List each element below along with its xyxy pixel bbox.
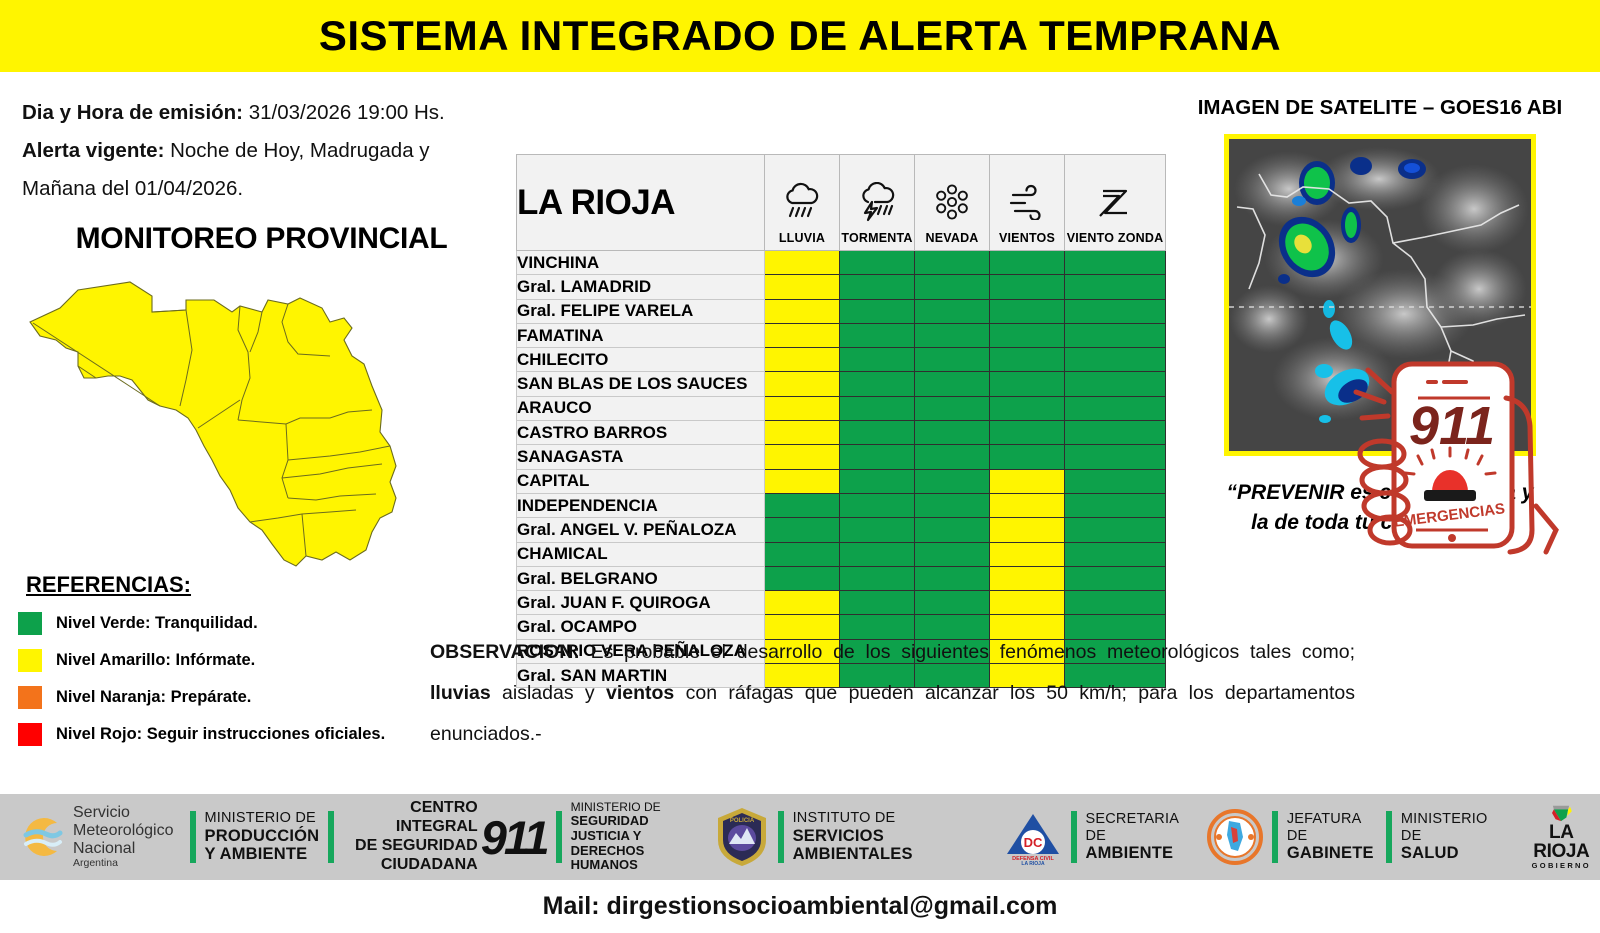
- emission-datetime-value: 31/03/2026 19:00 Hs.: [243, 101, 445, 124]
- la-rioja-gobierno-icon: [1531, 804, 1591, 822]
- alert-cell-vientos: [990, 275, 1065, 299]
- footer-logo-produccion: MINISTERIO DE PRODUCCIÓN Y AMBIENTE: [205, 804, 320, 870]
- inst-bold-1: SERVICIOS AMBIENTALES: [793, 827, 990, 864]
- cis-line-3: CIUDADANA: [343, 856, 477, 875]
- column-header-lluvia: LLUVIA: [765, 155, 840, 251]
- legend-swatch-green: [18, 612, 42, 635]
- legend-swatch-red: [18, 723, 42, 746]
- column-label-viento-zonda: VIENTO ZONDA: [1065, 231, 1165, 250]
- table-row-department: INDEPENDENCIA: [517, 493, 765, 517]
- smn-line-4: Argentina: [73, 858, 174, 870]
- alert-cell-lluvia: [765, 469, 840, 493]
- seguridad-bold-3: DERECHOS HUMANOS: [571, 844, 703, 873]
- alert-cell-tormenta: [840, 493, 915, 517]
- footer-divider-4: [778, 811, 784, 863]
- table-row: INDEPENDENCIA: [517, 493, 1166, 517]
- alert-cell-viento-zonda: [1065, 251, 1166, 275]
- alert-cell-vientos: [990, 591, 1065, 615]
- table-row-department: VINCHINA: [517, 251, 765, 275]
- la-rioja-name: LA RIOJA: [1523, 823, 1600, 861]
- alert-cell-viento-zonda: [1065, 518, 1166, 542]
- smn-line-2: Meteorológico: [73, 822, 174, 840]
- alert-cell-vientos: [990, 518, 1065, 542]
- alert-cell-tormenta: [840, 542, 915, 566]
- legend-label-red: Nivel Rojo: Seguir instrucciones oficial…: [56, 725, 385, 744]
- table-row-department: Gral. JUAN F. QUIROGA: [517, 591, 765, 615]
- alert-cell-tormenta: [840, 323, 915, 347]
- alert-table-wrap: LA RIOJA LLUVIA: [516, 154, 1166, 688]
- alert-cell-lluvia: [765, 518, 840, 542]
- alert-cell-nevada: [915, 372, 990, 396]
- emergency-911-graphic: 911 EMERGENCIAS: [1310, 340, 1565, 560]
- cis-911-number: 911: [481, 810, 547, 865]
- table-row: Gral. FELIPE VARELA: [517, 299, 1166, 323]
- alert-cell-nevada: [915, 469, 990, 493]
- alert-validity-label: Alerta vigente:: [22, 139, 164, 162]
- table-row: FAMATINA: [517, 323, 1166, 347]
- footer-divider-6: [1272, 811, 1278, 863]
- alert-cell-lluvia: [765, 275, 840, 299]
- alert-cell-viento-zonda: [1065, 421, 1166, 445]
- footer-divider-7: [1386, 811, 1392, 863]
- province-map: [0, 260, 515, 590]
- observation-label: OBSERVACION:: [430, 641, 580, 663]
- rain-icon: [765, 173, 839, 231]
- footer-logos-bar: Servicio Meteorológico Nacional Argentin…: [0, 794, 1600, 880]
- alert-cell-vientos: [990, 251, 1065, 275]
- emission-datetime-label: Dia y Hora de emisión:: [22, 101, 243, 124]
- footer-divider-2: [328, 811, 334, 863]
- alert-cell-nevada: [915, 348, 990, 372]
- alert-cell-viento-zonda: [1065, 396, 1166, 420]
- alert-cell-tormenta: [840, 372, 915, 396]
- alert-cell-viento-zonda: [1065, 445, 1166, 469]
- observation-bold-lluvias: lluvias: [430, 682, 491, 704]
- references-title: REFERENCIAS:: [18, 572, 438, 598]
- salud-bold: SALUD: [1401, 844, 1503, 863]
- alert-cell-vientos: [990, 421, 1065, 445]
- right-column: IMAGEN DE SATELITE – GOES16 ABI: [1160, 72, 1600, 794]
- alert-cell-nevada: [915, 275, 990, 299]
- gabinete-emblem-icon: [1207, 809, 1263, 865]
- province-header: LA RIOJA: [517, 155, 765, 251]
- alert-cell-viento-zonda: [1065, 275, 1166, 299]
- alert-cell-lluvia: [765, 323, 840, 347]
- alert-cell-tormenta: [840, 566, 915, 590]
- emission-block: Dia y Hora de emisión: 31/03/2026 19:00 …: [0, 72, 515, 256]
- alert-cell-lluvia: [765, 251, 840, 275]
- footer-logo-jefatura-gabinete: JEFATURA DE GABINETE: [1287, 804, 1377, 870]
- alert-cell-vientos: [990, 323, 1065, 347]
- column-header-tormenta: TORMENTA: [840, 155, 915, 251]
- references-legend: REFERENCIAS: Nivel Verde: Tranquilidad. …: [18, 572, 438, 760]
- alert-cell-lluvia: [765, 372, 840, 396]
- alert-cell-nevada: [915, 518, 990, 542]
- snowflake-icon: [915, 173, 989, 231]
- footer-logo-cis911: CENTRO INTEGRAL DE SEGURIDAD CIUDADANA 9…: [343, 804, 546, 870]
- la-rioja-sub: GOBIERNO: [1523, 861, 1600, 870]
- legend-item-orange: Nivel Naranja: Prepárate.: [18, 686, 438, 709]
- alert-cell-viento-zonda: [1065, 493, 1166, 517]
- footer-logo-ministerio-salud: MINISTERIO DE SALUD: [1401, 804, 1503, 870]
- alert-cell-tormenta: [840, 591, 915, 615]
- alert-cell-vientos: [990, 372, 1065, 396]
- alert-cell-viento-zonda: [1065, 299, 1166, 323]
- alert-cell-viento-zonda: [1065, 566, 1166, 590]
- alert-cell-vientos: [990, 299, 1065, 323]
- table-header-row: LA RIOJA LLUVIA: [517, 155, 1166, 251]
- secambiente-bold: AMBIENTE: [1086, 844, 1193, 863]
- svg-text:POLICIA: POLICIA: [729, 818, 754, 824]
- alert-cell-nevada: [915, 591, 990, 615]
- table-row: CASTRO BARROS: [517, 421, 1166, 445]
- alert-cell-nevada: [915, 542, 990, 566]
- table-row-department: SANAGASTA: [517, 445, 765, 469]
- wind-icon: [990, 173, 1064, 231]
- alert-cell-lluvia: [765, 591, 840, 615]
- alert-cell-nevada: [915, 323, 990, 347]
- table-row: Gral. JUAN F. QUIROGA: [517, 591, 1166, 615]
- zonda-wind-icon: [1065, 173, 1165, 231]
- table-row: ARAUCO: [517, 396, 1166, 420]
- alert-validity-line: Alerta vigente: Noche de Hoy, Madrugada …: [22, 132, 501, 170]
- cis-line-2: DE SEGURIDAD: [343, 837, 477, 856]
- alert-cell-vientos: [990, 445, 1065, 469]
- alert-cell-tormenta: [840, 396, 915, 420]
- la-rioja-map-svg: [0, 260, 515, 590]
- alert-cell-lluvia: [765, 542, 840, 566]
- page-title: SISTEMA INTEGRADO DE ALERTA TEMPRANA: [319, 12, 1281, 60]
- alert-cell-vientos: [990, 469, 1065, 493]
- column-label-nevada: NEVADA: [915, 231, 989, 250]
- table-row: VINCHINA: [517, 251, 1166, 275]
- table-row: CHAMICAL: [517, 542, 1166, 566]
- footer-divider-5: [1071, 811, 1077, 863]
- table-row: SANAGASTA: [517, 445, 1166, 469]
- footer-logo-defensa-civil: DC DEFENSA CIVIL LA RIOJA: [1004, 804, 1062, 870]
- table-row: CHILECITO: [517, 348, 1166, 372]
- inst-thin: INSTITUTO DE: [793, 810, 990, 826]
- alert-cell-tormenta: [840, 445, 915, 469]
- dc-initials: DC: [1023, 835, 1042, 850]
- alert-cell-vientos: [990, 566, 1065, 590]
- table-row-department: FAMATINA: [517, 323, 765, 347]
- table-row-department: SAN BLAS DE LOS SAUCES: [517, 372, 765, 396]
- legend-label-orange: Nivel Naranja: Prepárate.: [56, 688, 251, 707]
- column-header-viento-zonda: VIENTO ZONDA: [1065, 155, 1166, 251]
- legend-label-green: Nivel Verde: Tranquilidad.: [56, 614, 258, 633]
- footer-logo-la-rioja-gobierno: LA RIOJA GOBIERNO: [1523, 804, 1600, 870]
- table-row-department: CHAMICAL: [517, 542, 765, 566]
- alert-table: LA RIOJA LLUVIA: [516, 154, 1166, 688]
- footer-logo-secretaria-ambiente: SECRETARIA DE AMBIENTE: [1086, 804, 1193, 870]
- mail-bar: Mail: dirgestionsocioambiental@gmail.com: [0, 880, 1600, 933]
- alert-cell-viento-zonda: [1065, 323, 1166, 347]
- table-row-department: ARAUCO: [517, 396, 765, 420]
- table-row-department: CAPITAL: [517, 469, 765, 493]
- alert-cell-viento-zonda: [1065, 591, 1166, 615]
- dc-line-3: LA RIOJA: [1021, 861, 1045, 866]
- alert-cell-tormenta: [840, 469, 915, 493]
- table-row-department: CASTRO BARROS: [517, 421, 765, 445]
- footer-divider-3: [556, 811, 562, 863]
- produccion-bold-1: PRODUCCIÓN: [205, 827, 320, 846]
- alert-cell-viento-zonda: [1065, 348, 1166, 372]
- table-row: Gral. LAMADRID: [517, 275, 1166, 299]
- footer-logo-seguridad: MINISTERIO DE SEGURIDAD JUSTICIA Y DEREC…: [571, 804, 703, 870]
- table-row-department: CHILECITO: [517, 348, 765, 372]
- footer-logo-gabinete-emblem: [1207, 804, 1263, 870]
- policia-shield-icon: POLICIA: [715, 806, 769, 868]
- footer-logo-servicios-ambientales: INSTITUTO DE SERVICIOS AMBIENTALES: [793, 804, 990, 870]
- table-row: SAN BLAS DE LOS SAUCES: [517, 372, 1166, 396]
- monitoreo-title: MONITOREO PROVINCIAL: [22, 222, 501, 256]
- alert-cell-tormenta: [840, 275, 915, 299]
- table-row: CAPITAL: [517, 469, 1166, 493]
- alert-cell-nevada: [915, 299, 990, 323]
- footer-divider-1: [190, 811, 196, 863]
- alert-cell-lluvia: [765, 566, 840, 590]
- alert-cell-tormenta: [840, 421, 915, 445]
- table-row-department: Gral. FELIPE VARELA: [517, 299, 765, 323]
- page-banner: SISTEMA INTEGRADO DE ALERTA TEMPRANA: [0, 0, 1600, 72]
- alert-cell-lluvia: [765, 445, 840, 469]
- legend-item-green: Nivel Verde: Tranquilidad.: [18, 612, 438, 635]
- alert-cell-nevada: [915, 566, 990, 590]
- table-row: Gral. BELGRANO: [517, 566, 1166, 590]
- thunderstorm-icon: [840, 173, 914, 231]
- footer-logo-policia: POLICIA: [715, 804, 769, 870]
- column-label-tormenta: TORMENTA: [840, 231, 914, 250]
- salud-thin: MINISTERIO DE: [1401, 811, 1503, 844]
- seguridad-bold-1: SEGURIDAD: [571, 814, 703, 829]
- gabinete-bold: GABINETE: [1287, 844, 1377, 863]
- cis-line-1: CENTRO INTEGRAL: [343, 799, 477, 837]
- alert-cell-nevada: [915, 445, 990, 469]
- smn-line-1: Servicio: [73, 804, 174, 822]
- alert-validity-value: Noche de Hoy, Madrugada y: [164, 139, 429, 162]
- alert-cell-nevada: [915, 251, 990, 275]
- table-row-department: Gral. ANGEL V. PEÑALOZA: [517, 518, 765, 542]
- secambiente-thin: SECRETARIA DE: [1086, 811, 1193, 844]
- defensa-civil-icon: DC DEFENSA CIVIL LA RIOJA: [1004, 808, 1062, 866]
- observation-bold-vientos: vientos: [606, 682, 674, 704]
- alert-cell-tormenta: [840, 299, 915, 323]
- alert-cell-lluvia: [765, 493, 840, 517]
- alert-cell-vientos: [990, 493, 1065, 517]
- alert-cell-tormenta: [840, 251, 915, 275]
- legend-swatch-orange: [18, 686, 42, 709]
- column-header-nevada: NEVADA: [915, 155, 990, 251]
- alert-validity-line-2: Mañana del 01/04/2026.: [22, 170, 501, 208]
- table-row-department: Gral. LAMADRID: [517, 275, 765, 299]
- column-header-vientos: VIENTOS: [990, 155, 1065, 251]
- alert-cell-viento-zonda: [1065, 542, 1166, 566]
- column-label-lluvia: LLUVIA: [765, 231, 839, 250]
- column-label-vientos: VIENTOS: [990, 231, 1064, 250]
- seguridad-thin: MINISTERIO DE: [571, 801, 703, 815]
- smn-line-3: Nacional: [73, 840, 174, 858]
- emergency-911-svg: 911 EMERGENCIAS: [1310, 340, 1565, 555]
- alert-cell-viento-zonda: [1065, 469, 1166, 493]
- alert-cell-lluvia: [765, 299, 840, 323]
- alert-cell-lluvia: [765, 348, 840, 372]
- satellite-title: IMAGEN DE SATELITE – GOES16 ABI: [1160, 96, 1600, 120]
- alert-cell-viento-zonda: [1065, 372, 1166, 396]
- alert-cell-vientos: [990, 396, 1065, 420]
- main-stage: Dia y Hora de emisión: 31/03/2026 19:00 …: [0, 72, 1600, 794]
- produccion-bold-2: Y AMBIENTE: [205, 845, 320, 864]
- gabinete-thin: JEFATURA DE: [1287, 811, 1377, 844]
- legend-swatch-yellow: [18, 649, 42, 672]
- table-row-department: Gral. BELGRANO: [517, 566, 765, 590]
- alert-cell-vientos: [990, 348, 1065, 372]
- smn-logo-icon: [16, 811, 66, 863]
- alert-cell-nevada: [915, 493, 990, 517]
- footer-logo-smn: Servicio Meteorológico Nacional Argentin…: [16, 804, 174, 870]
- seguridad-bold-2: JUSTICIA Y: [571, 829, 703, 844]
- observation-text-2: aisladas y: [491, 682, 606, 704]
- legend-label-yellow: Nivel Amarillo: Infórmate.: [56, 651, 255, 670]
- alert-table-body: VINCHINAGral. LAMADRIDGral. FELIPE VAREL…: [517, 251, 1166, 688]
- alert-cell-lluvia: [765, 421, 840, 445]
- table-row: Gral. ANGEL V. PEÑALOZA: [517, 518, 1166, 542]
- produccion-thin: MINISTERIO DE: [205, 810, 320, 826]
- alert-cell-tormenta: [840, 348, 915, 372]
- legend-item-yellow: Nivel Amarillo: Infórmate.: [18, 649, 438, 672]
- contact-email: Mail: dirgestionsocioambiental@gmail.com: [543, 892, 1058, 921]
- alert-cell-nevada: [915, 421, 990, 445]
- emission-datetime-line: Dia y Hora de emisión: 31/03/2026 19:00 …: [22, 94, 501, 132]
- alert-cell-nevada: [915, 396, 990, 420]
- alert-cell-tormenta: [840, 518, 915, 542]
- emergency-911-number: 911: [1409, 396, 1495, 456]
- alert-cell-lluvia: [765, 396, 840, 420]
- alert-cell-vientos: [990, 542, 1065, 566]
- legend-item-red: Nivel Rojo: Seguir instrucciones oficial…: [18, 723, 438, 746]
